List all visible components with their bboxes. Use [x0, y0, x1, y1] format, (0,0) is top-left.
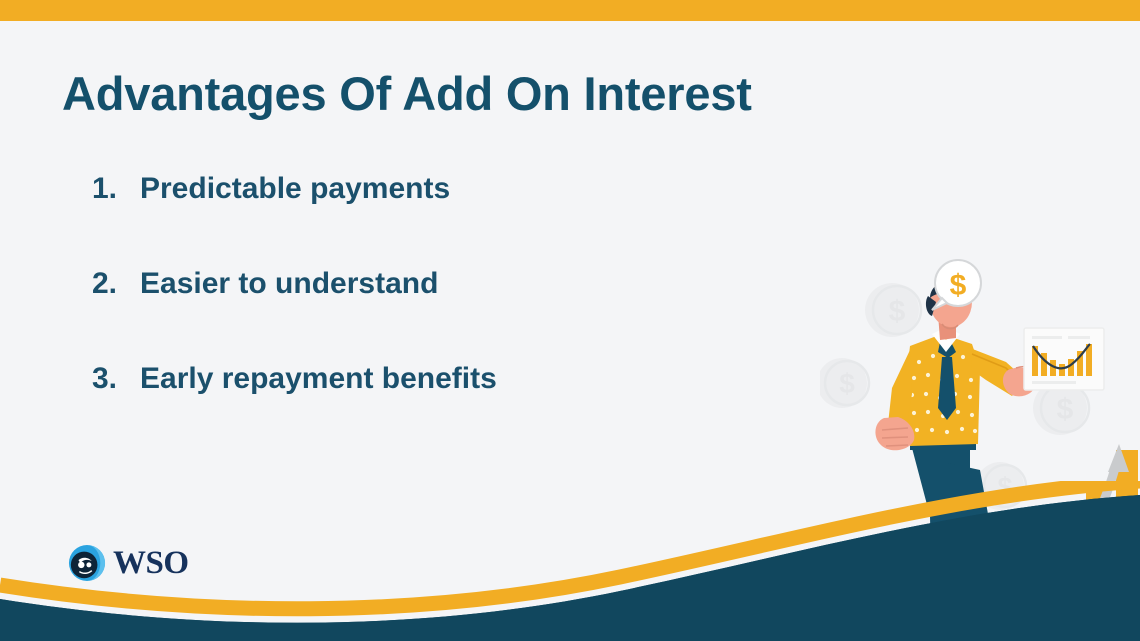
- background-coin-icon: $: [865, 283, 921, 337]
- list-item-label: Easier to understand: [140, 267, 438, 301]
- list-item: 2. Easier to understand: [92, 267, 732, 362]
- slide-canvas: Advantages Of Add On Interest 1. Predict…: [0, 0, 1140, 641]
- list-item-number: 3.: [92, 362, 140, 396]
- list-item-number: 2.: [92, 267, 140, 301]
- list-item-number: 1.: [92, 172, 140, 206]
- dollar-speech-bubble-icon: $: [932, 260, 981, 310]
- bar-chart-card-icon: [1024, 328, 1104, 390]
- wso-logo[interactable]: WSO: [68, 544, 189, 582]
- background-coin-icon: $: [820, 358, 869, 408]
- svg-text:$: $: [1057, 393, 1074, 426]
- list-item: 3. Early repayment benefits: [92, 362, 732, 457]
- logo-wordmark: WSO: [113, 547, 189, 580]
- svg-text:$: $: [950, 269, 967, 302]
- advantages-list: 1. Predictable payments 2. Easier to und…: [92, 172, 732, 457]
- list-item-label: Early repayment benefits: [140, 362, 497, 396]
- list-item: 1. Predictable payments: [92, 172, 732, 267]
- svg-text:$: $: [839, 368, 855, 399]
- svg-text:$: $: [889, 295, 906, 328]
- top-accent-bar: [0, 0, 1140, 21]
- globe-icon: [68, 544, 106, 582]
- list-item-label: Predictable payments: [140, 172, 450, 206]
- page-title: Advantages Of Add On Interest: [62, 66, 752, 121]
